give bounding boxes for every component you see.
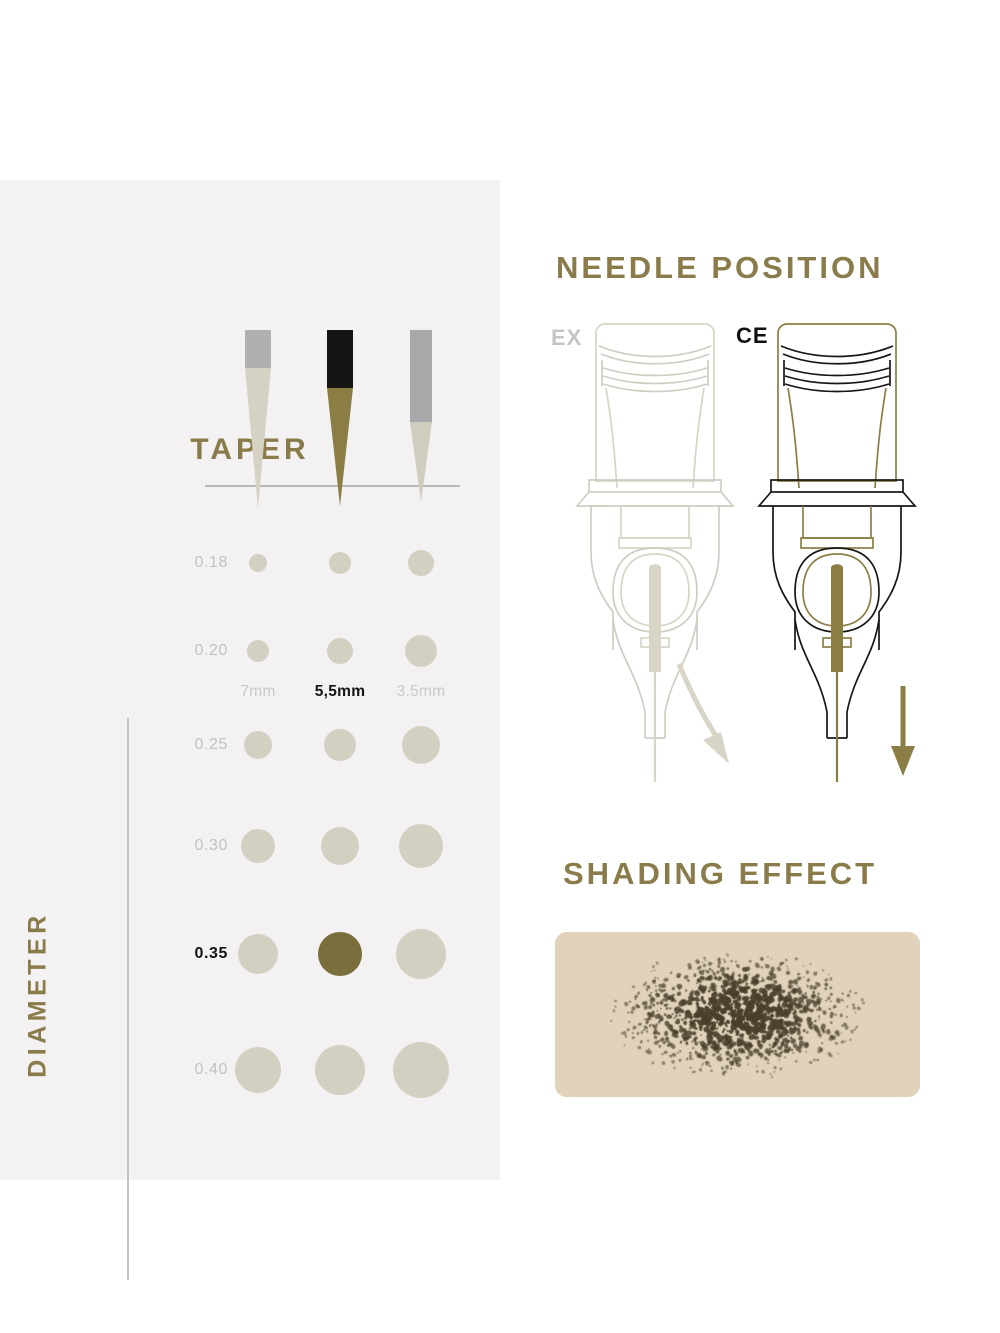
diameter-row-label-0-20: 0.20 (150, 642, 228, 660)
taper-diameter-panel: TAPER 7mm5,5mm3.5mm DIAMETER 0.180.200.2… (0, 180, 500, 1180)
needle-position-section-title: NEEDLE POSITION (556, 250, 883, 286)
diameter-dot (393, 1042, 449, 1098)
diameter-row-label-0-25: 0.25 (150, 736, 228, 754)
diameter-dot (241, 829, 275, 863)
diameter-axis-label: DIAMETER (24, 895, 53, 1095)
taper-shaft-2 (410, 330, 432, 422)
cartridge-diagram-ex (575, 320, 735, 790)
diameter-dot (327, 638, 353, 664)
cartridge-diagram-ce (757, 320, 922, 790)
diameter-dot (249, 554, 267, 572)
diameter-dot (244, 731, 272, 759)
shading-effect-section-title: SHADING EFFECT (563, 856, 877, 892)
diameter-dot (396, 929, 446, 979)
diameter-dot (408, 550, 434, 576)
diameter-row-label-0-30: 0.30 (150, 837, 228, 855)
taper-shaft-0 (245, 330, 271, 368)
diameter-axis-line (127, 718, 129, 1280)
diameter-dot (318, 932, 362, 976)
diameter-row-label-0-40: 0.40 (150, 1061, 228, 1079)
diameter-dot (324, 729, 356, 761)
shading-effect-swatch (555, 932, 920, 1097)
shading-speckle-texture (555, 932, 920, 1097)
taper-length-label-2: 3.5mm (376, 683, 466, 701)
taper-length-label-1: 5,5mm (295, 683, 385, 701)
diameter-row-label-0-18: 0.18 (150, 554, 228, 572)
diameter-dot (321, 827, 359, 865)
diameter-row-label-0-35: 0.35 (150, 945, 228, 963)
taper-point-0 (245, 368, 271, 508)
diameter-dot (235, 1047, 281, 1093)
taper-point-1 (327, 388, 353, 506)
diameter-dot (238, 934, 278, 974)
diameter-dot (329, 552, 351, 574)
taper-shaft-1 (327, 330, 353, 388)
diameter-dot (315, 1045, 365, 1095)
diameter-dot (402, 726, 440, 764)
diameter-dot (405, 635, 437, 667)
diagram-canvas: TAPER 7mm5,5mm3.5mm DIAMETER 0.180.200.2… (0, 0, 1000, 1333)
taper-point-2 (410, 422, 432, 502)
diameter-dot (247, 640, 269, 662)
diameter-dot (399, 824, 443, 868)
taper-length-label-0: 7mm (213, 683, 303, 701)
